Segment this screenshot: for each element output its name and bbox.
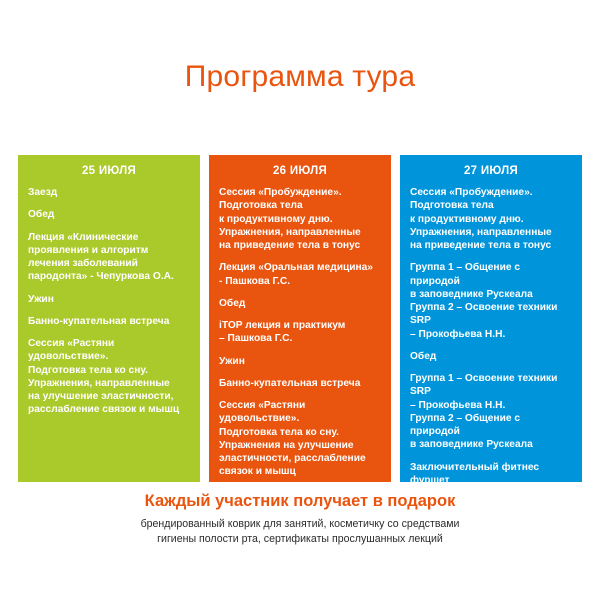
column-date-heading: 25 ИЮЛЯ (28, 165, 190, 177)
schedule-entry-line: Упражнения на улучшение (219, 439, 381, 452)
column-date-heading: 26 ИЮЛЯ (219, 165, 381, 177)
schedule-entry-line: Группа 2 – Общение с природой (410, 412, 572, 439)
schedule-entry-line: проявления и алгоритм (28, 244, 190, 257)
footer-subtitle-line: гигиены полости рта, сертификаты прослуш… (0, 532, 600, 547)
schedule-entry: Заключительный фитнес фуршет (410, 461, 572, 483)
schedule-entry-line: Сессия «Растяни удовольствие». (219, 399, 381, 426)
schedule-entry-line: – Пашкова Г.С. (219, 332, 381, 345)
program-poster: Программа тура 25 ИЮЛЯ ЗаездОбедЛекция «… (0, 0, 600, 600)
schedule-entry-line: пародонта» - Чепуркова О.А. (28, 270, 190, 283)
schedule-entry-line: Упражнения, направленные (410, 226, 572, 239)
schedule-entry-line: эластичности, расслабление (219, 452, 381, 465)
schedule-entry-line: Обед (219, 297, 381, 310)
schedule-entry-line: Подготовка тела (219, 199, 381, 212)
schedule-entry-line: Сессия «Растяни удовольствие». (28, 337, 190, 364)
column-date-heading: 27 ИЮЛЯ (410, 165, 572, 177)
schedule-entry-line: iTOP лекция и практикум (219, 319, 381, 332)
schedule-entry-line: на приведение тела в тонус (410, 239, 572, 252)
schedule-entry-line: Лекция «Клинические (28, 231, 190, 244)
schedule-entry: Обед (410, 350, 572, 363)
schedule-entry-line: Ужин (219, 355, 381, 368)
schedule-entry: Группа 1 – Освоение техники SRP– Прокофь… (410, 372, 572, 452)
footer-gift-section: Каждый участник получает в подарок бренд… (0, 492, 600, 548)
schedule-entry-line: в заповеднике Рускеала (410, 288, 572, 301)
schedule-entry-line: Упражнения, направленные (219, 226, 381, 239)
schedule-entry-line: к продуктивному дню. (219, 213, 381, 226)
schedule-entry-line: Сессия «Пробуждение». (219, 186, 381, 199)
schedule-column-day-2: 26 ИЮЛЯ Сессия «Пробуждение».Подготовка … (209, 155, 391, 482)
schedule-entry: Банно-купательная встреча (28, 315, 190, 328)
schedule-entry-line: Обед (410, 350, 572, 363)
schedule-entry-line: Подготовка тела ко сну. (28, 364, 190, 377)
schedule-entry-line: Банно-купательная встреча (219, 377, 381, 390)
schedule-entry: iTOP лекция и практикум– Пашкова Г.С. (219, 319, 381, 346)
schedule-entry: Банно-купательная встреча (219, 377, 381, 390)
schedule-entry: Обед (28, 208, 190, 221)
schedule-entry-line: Группа 2 – Освоение техники SRP (410, 301, 572, 328)
column-entries: ЗаездОбедЛекция «Клиническиепроявления и… (28, 186, 190, 417)
schedule-entry: Обед (219, 297, 381, 310)
schedule-entry: Лекция «Клиническиепроявления и алгоритм… (28, 231, 190, 284)
schedule-entry-line: расслабление связок и мышц (28, 403, 190, 416)
schedule-entry-line: связок и мышц (219, 465, 381, 478)
schedule-entry-line: Подготовка тела ко сну. (219, 426, 381, 439)
schedule-column-day-1: 25 ИЮЛЯ ЗаездОбедЛекция «Клиническиепроя… (18, 155, 200, 482)
schedule-entry-line: Подготовка тела (410, 199, 572, 212)
schedule-entry-line: на приведение тела в тонус (219, 239, 381, 252)
schedule-entry-line: – Прокофьева Н.Н. (410, 328, 572, 341)
schedule-entry-line: Упражнения, направленные (28, 377, 190, 390)
schedule-entry: Сессия «Растяни удовольствие».Подготовка… (28, 337, 190, 417)
schedule-entry: Ужин (219, 355, 381, 368)
schedule-entry-line: Заезд (28, 186, 190, 199)
schedule-entry-line: на улучшение эластичности, (28, 390, 190, 403)
schedule-entry-line: Ужин (28, 293, 190, 306)
schedule-entry-line: в заповеднике Рускеала (410, 438, 572, 451)
schedule-entry-line: - Пашкова Г.С. (219, 275, 381, 288)
schedule-entry-line: Обед (28, 208, 190, 221)
schedule-entry: Группа 1 – Общение с природой в заповедн… (410, 261, 572, 341)
schedule-entry-line: Лекция «Оральная медицина» (219, 261, 381, 274)
footer-subtitle: брендированный коврик для занятий, косме… (0, 517, 600, 548)
schedule-entry-line: Заключительный фитнес фуршет (410, 461, 572, 483)
schedule-columns: 25 ИЮЛЯ ЗаездОбедЛекция «Клиническиепроя… (18, 155, 582, 482)
column-entries: Сессия «Пробуждение».Подготовка телак пр… (219, 186, 381, 479)
page-title: Программа тура (0, 60, 600, 94)
schedule-entry: Сессия «Растяни удовольствие».Подготовка… (219, 399, 381, 479)
schedule-entry: Сессия «Пробуждение».Подготовка телак пр… (219, 186, 381, 252)
schedule-entry: Лекция «Оральная медицина»- Пашкова Г.С. (219, 261, 381, 288)
schedule-entry: Сессия «Пробуждение».Подготовка телак пр… (410, 186, 572, 252)
schedule-entry-line: Группа 1 – Освоение техники SRP (410, 372, 572, 399)
schedule-entry-line: к продуктивному дню. (410, 213, 572, 226)
schedule-entry-line: Банно-купательная встреча (28, 315, 190, 328)
schedule-entry: Заезд (28, 186, 190, 199)
schedule-entry: Ужин (28, 293, 190, 306)
schedule-entry-line: – Прокофьева Н.Н. (410, 399, 572, 412)
schedule-entry-line: Сессия «Пробуждение». (410, 186, 572, 199)
schedule-column-day-3: 27 ИЮЛЯ Сессия «Пробуждение».Подготовка … (400, 155, 582, 482)
footer-subtitle-line: брендированный коврик для занятий, косме… (0, 517, 600, 532)
footer-headline: Каждый участник получает в подарок (0, 492, 600, 511)
schedule-entry-line: лечения заболеваний (28, 257, 190, 270)
column-entries: Сессия «Пробуждение».Подготовка телак пр… (410, 186, 572, 482)
schedule-entry-line: Группа 1 – Общение с природой (410, 261, 572, 288)
